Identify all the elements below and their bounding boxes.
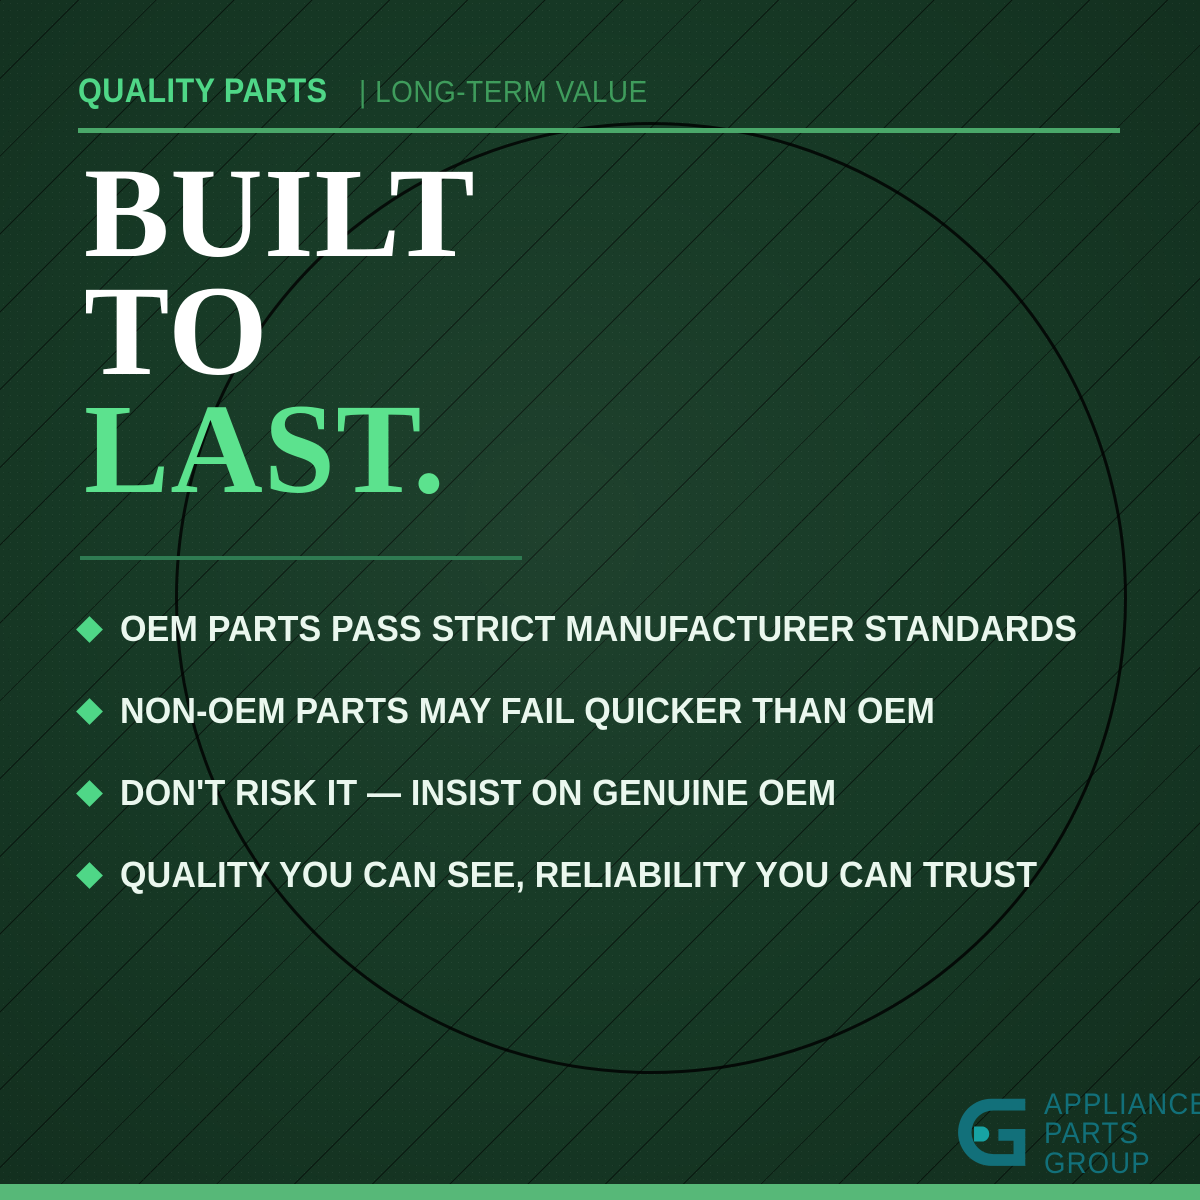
brand-logo: APPLIANCE PARTS GROUP bbox=[948, 1092, 1200, 1178]
diamond-icon bbox=[76, 862, 103, 889]
brand-logo-line-3: GROUP bbox=[1044, 1149, 1200, 1178]
list-divider-rule bbox=[80, 556, 522, 560]
diamond-icon bbox=[76, 616, 103, 643]
list-item: DON'T RISK IT — INSIST ON GENUINE OEM bbox=[80, 752, 1150, 834]
g-monogram-icon bbox=[948, 1092, 1032, 1176]
poster-canvas: QUALITY PARTS | LONG-TERM VALUE BUILT TO… bbox=[0, 0, 1200, 1200]
poster-content: QUALITY PARTS | LONG-TERM VALUE BUILT TO… bbox=[0, 0, 1200, 1200]
list-item: QUALITY YOU CAN SEE, RELIABILITY YOU CAN… bbox=[80, 834, 1150, 916]
headline-line-2: TO bbox=[84, 273, 476, 391]
list-item-label: QUALITY YOU CAN SEE, RELIABILITY YOU CAN… bbox=[120, 854, 1037, 896]
list-item-label: NON-OEM PARTS MAY FAIL QUICKER THAN OEM bbox=[120, 690, 935, 732]
benefits-list: OEM PARTS PASS STRICT MANUFACTURER STAND… bbox=[80, 588, 1150, 916]
diamond-icon bbox=[76, 780, 103, 807]
list-item: NON-OEM PARTS MAY FAIL QUICKER THAN OEM bbox=[80, 670, 1150, 752]
eyebrow-heading: QUALITY PARTS | LONG-TERM VALUE bbox=[78, 72, 680, 111]
list-item: OEM PARTS PASS STRICT MANUFACTURER STAND… bbox=[80, 588, 1150, 670]
brand-logo-line-1: APPLIANCE bbox=[1044, 1090, 1200, 1119]
bottom-accent-bar bbox=[0, 1184, 1200, 1200]
page-title: BUILT TO LAST. bbox=[84, 155, 476, 508]
header-divider-rule bbox=[78, 128, 1120, 133]
diamond-icon bbox=[76, 698, 103, 725]
eyebrow-main-text: QUALITY PARTS bbox=[78, 72, 328, 111]
headline-line-1: BUILT bbox=[84, 155, 476, 273]
brand-logo-wordmark: APPLIANCE PARTS GROUP bbox=[1044, 1090, 1200, 1178]
list-item-label: DON'T RISK IT — INSIST ON GENUINE OEM bbox=[120, 772, 836, 814]
list-item-label: OEM PARTS PASS STRICT MANUFACTURER STAND… bbox=[120, 608, 1077, 650]
eyebrow-sub-text: | LONG-TERM VALUE bbox=[359, 74, 648, 110]
headline-line-3: LAST. bbox=[84, 391, 476, 509]
brand-logo-line-2: PARTS bbox=[1044, 1119, 1200, 1148]
